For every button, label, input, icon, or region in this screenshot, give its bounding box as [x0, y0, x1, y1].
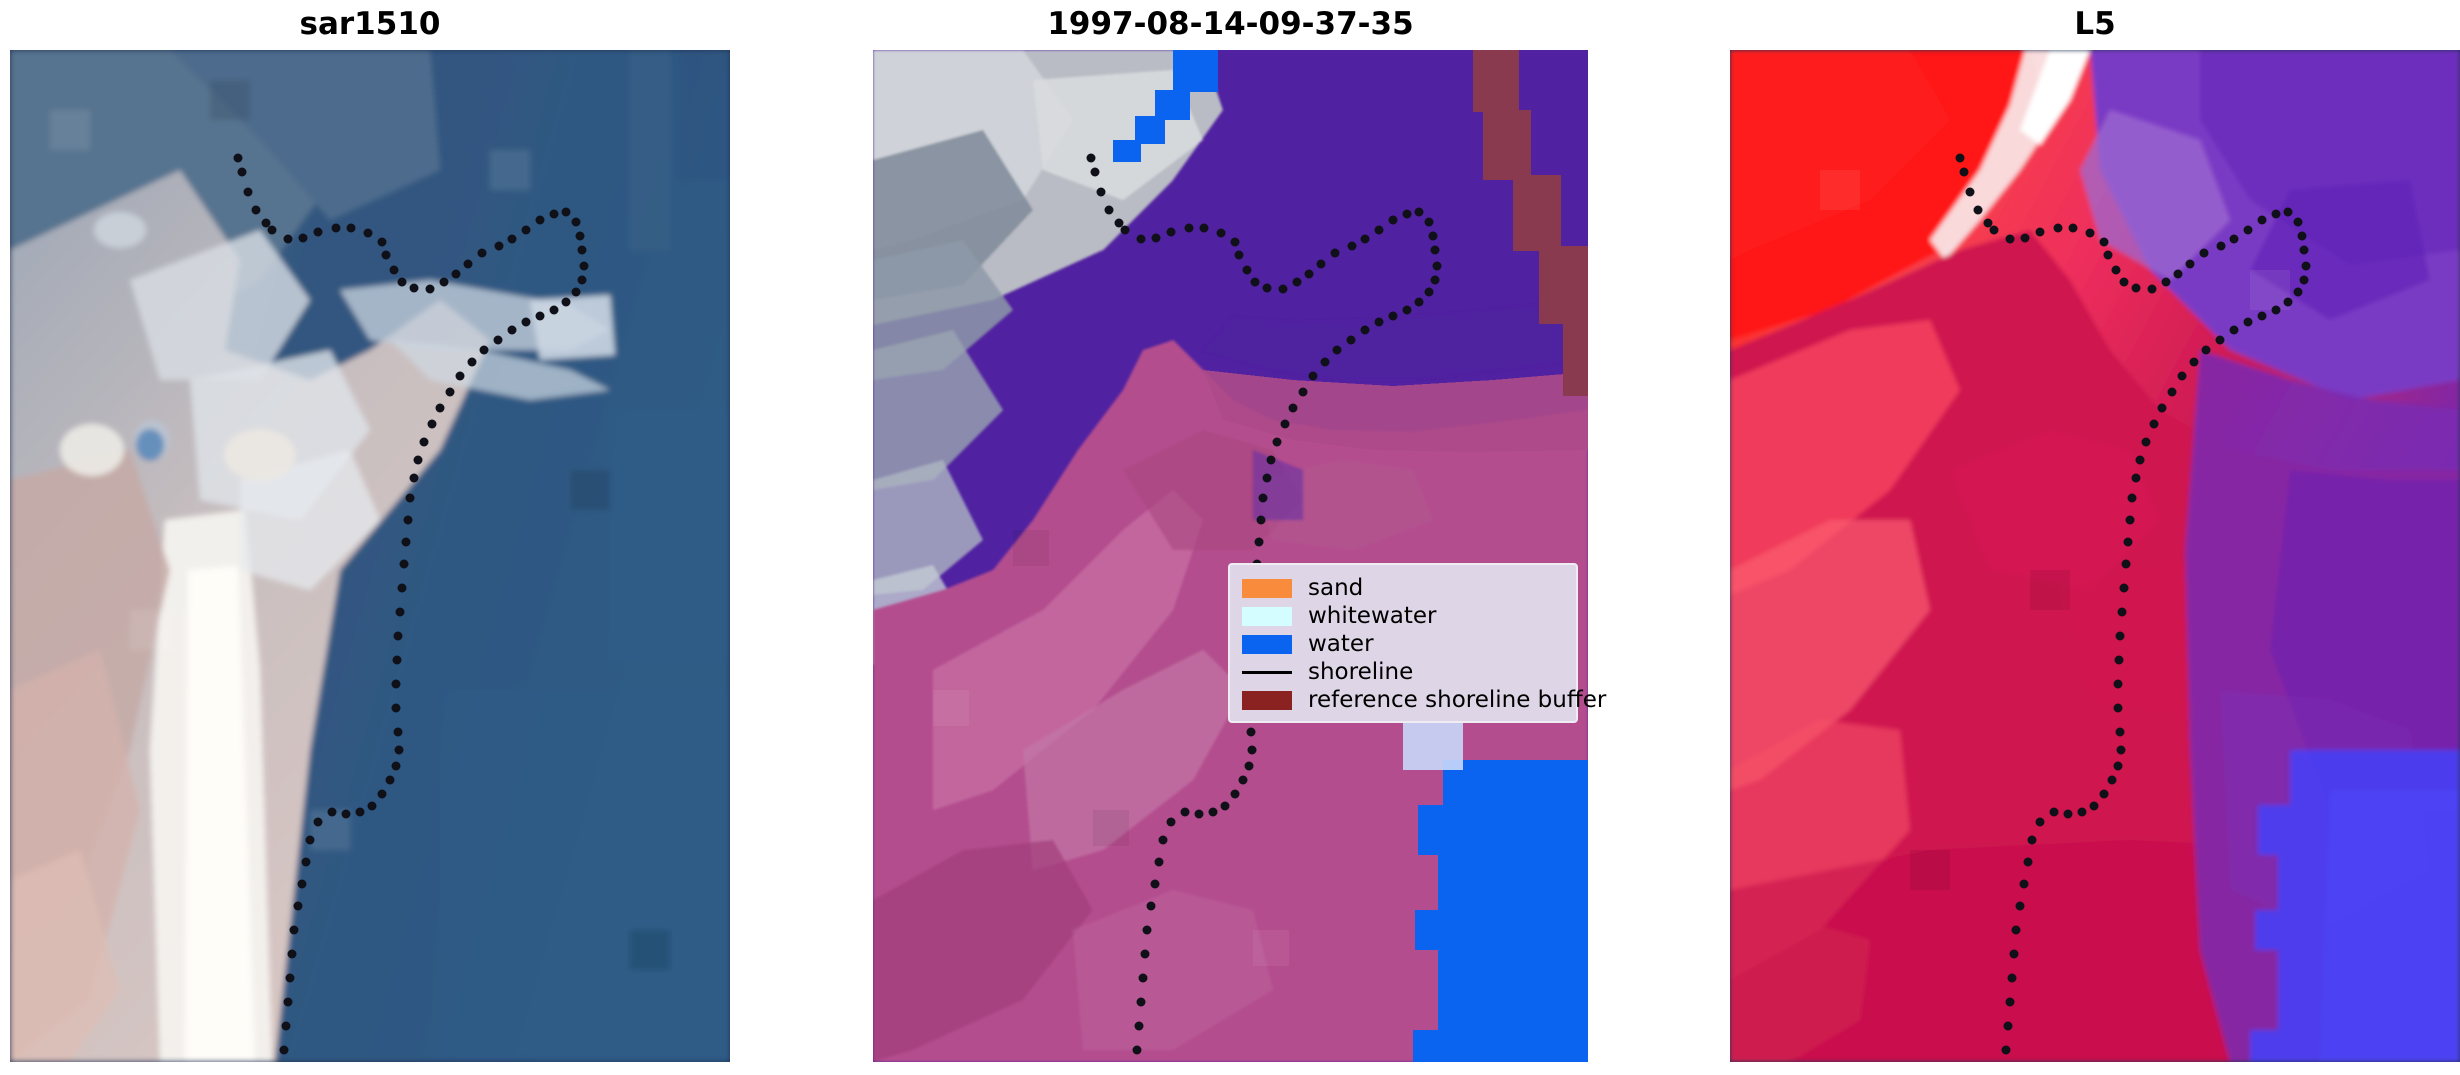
panel-title-classified: 1997-08-14-09-37-35 [873, 4, 1588, 44]
legend-label-water: water [1308, 630, 1374, 658]
legend-label-sand: sand [1308, 574, 1363, 602]
sand-swatch [1242, 579, 1292, 598]
legend-label-whitewater: whitewater [1308, 602, 1436, 630]
legend-item-shoreline: shoreline [1242, 658, 1566, 686]
panel-title-index: L5 [1730, 4, 2460, 44]
legend-box[interactable]: sand whitewater water shoreline referenc… [1228, 563, 1578, 723]
index-raster [1730, 50, 2460, 1062]
legend-item-whitewater: whitewater [1242, 602, 1566, 630]
sar-raster [10, 50, 730, 1062]
legend-item-water: water [1242, 630, 1566, 658]
panel-title-sar: sar1510 [10, 4, 730, 44]
legend-item-reference-buffer: reference shoreline buffer [1242, 686, 1566, 714]
legend-label-shoreline: shoreline [1308, 658, 1413, 686]
legend-label-reference-buffer: reference shoreline buffer [1308, 686, 1606, 714]
panel-index-image[interactable] [1730, 50, 2460, 1062]
legend-item-sand: sand [1242, 574, 1566, 602]
panel-classified-image[interactable] [873, 50, 1588, 1062]
figure-canvas: sar1510 [0, 0, 2460, 1075]
reference-buffer-swatch [1242, 691, 1292, 710]
classification-raster [873, 50, 1588, 1062]
shoreline-line-swatch [1242, 663, 1292, 682]
water-swatch [1242, 635, 1292, 654]
whitewater-swatch [1242, 607, 1292, 626]
panel-sar-image[interactable] [10, 50, 730, 1062]
